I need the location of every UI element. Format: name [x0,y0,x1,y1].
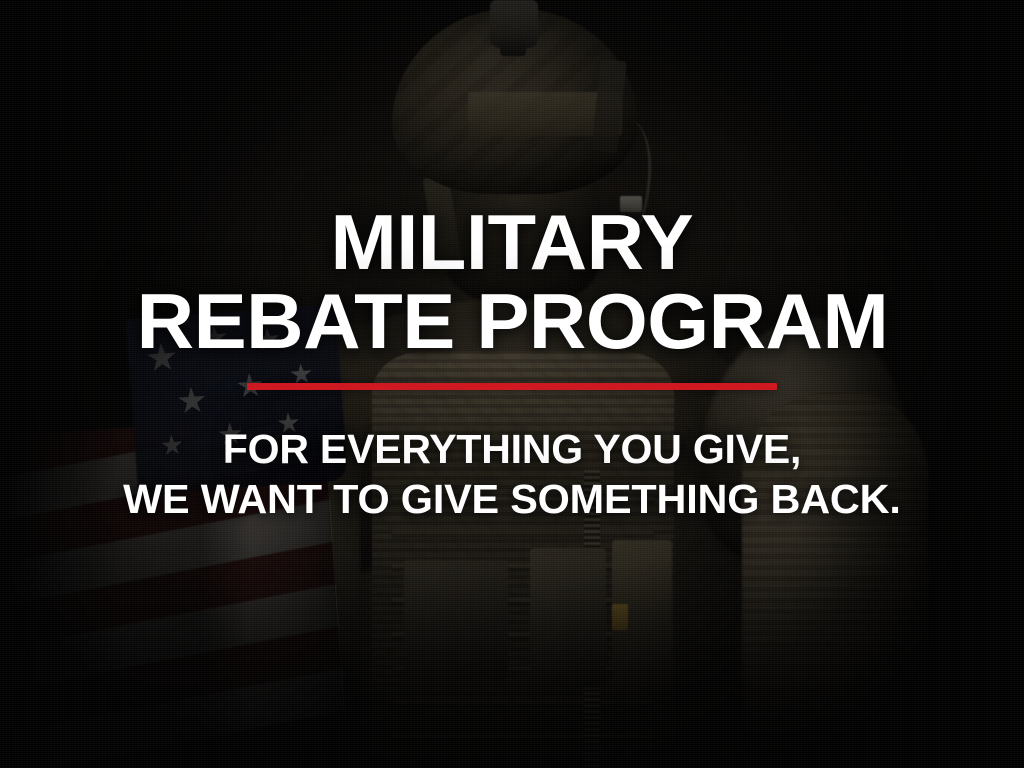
promotional-banner: MILITARY REBATE PROGRAM FOR EVERYTHING Y… [0,0,1024,768]
subheadline: FOR EVERYTHING YOU GIVE, WE WANT TO GIVE… [127,424,897,524]
vest-pouch-left [404,560,508,680]
nvg-mount-icon [490,0,538,48]
subheadline-line-1: FOR EVERYTHING YOU GIVE, [127,424,897,474]
red-divider [247,383,777,390]
vest-amber-tab [612,604,628,630]
subheadline-line-2: WE WANT TO GIVE SOMETHING BACK. [123,474,900,524]
headline-line-2: REBATE PROGRAM [136,285,888,358]
headline-line-1: MILITARY [331,206,694,279]
vest-pouch-center [530,548,606,688]
